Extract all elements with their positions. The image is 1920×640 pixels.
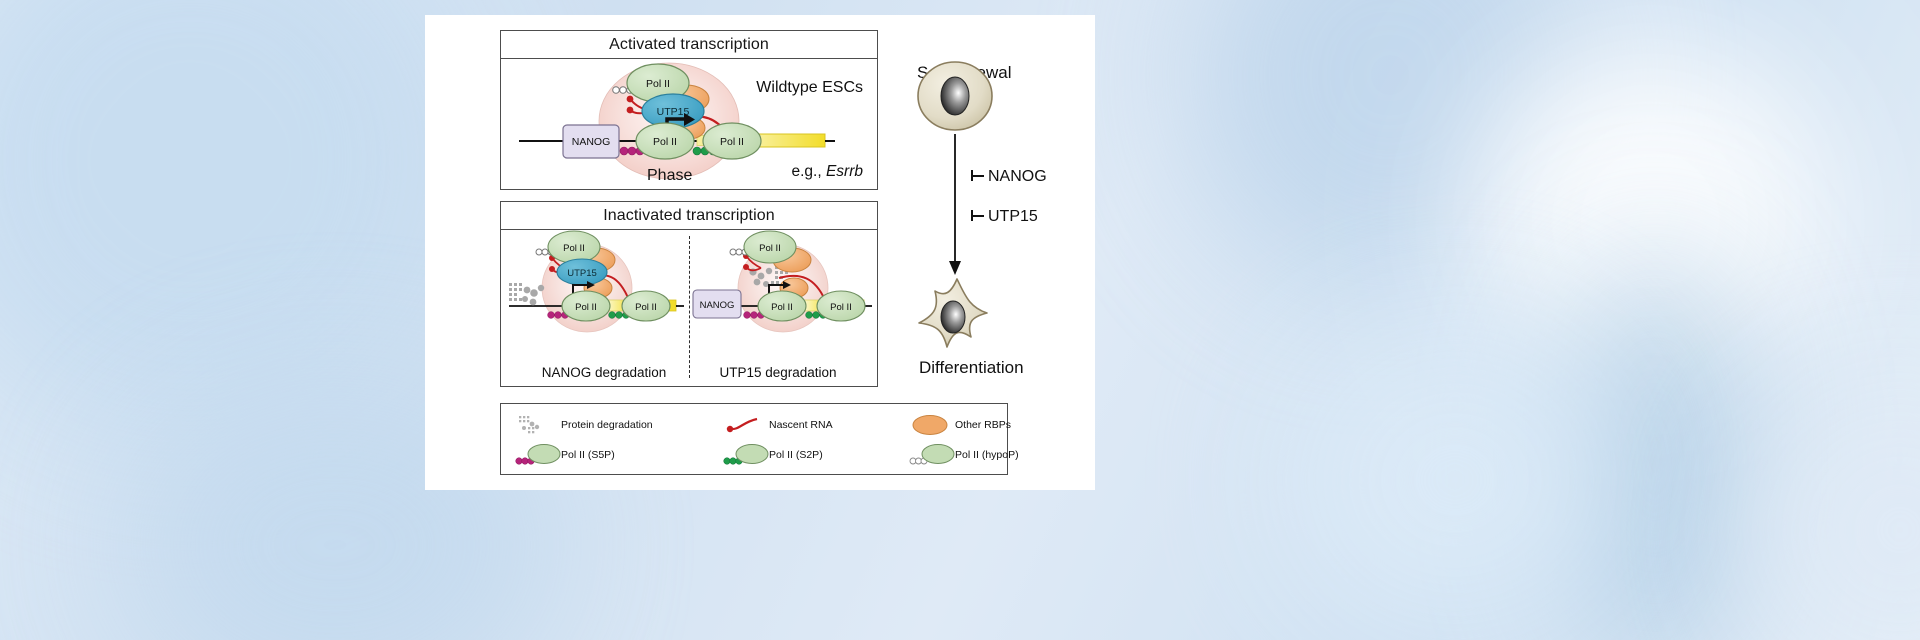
inhibition-bar-icon (971, 173, 985, 181)
pol-ii-s5p-label: Pol II (575, 302, 597, 313)
fate-pathway: Self-renewal (895, 33, 1090, 473)
differentiated-cell-nucleus (941, 301, 965, 333)
protein-degradation-icon (515, 414, 561, 436)
nanog-degradation-scene: Pol II UTP15 Pol II Pol II (503, 230, 689, 360)
pol-ii-s2p-label: Pol II (720, 136, 744, 148)
subpanel-divider (689, 236, 690, 378)
pol-ii-s2p-icon (723, 444, 769, 466)
example-gene-label: e.g., Esrrb (791, 163, 863, 181)
panel-inactivated-title: Inactivated transcription (501, 202, 877, 230)
panel-activated-title: Activated transcription (501, 31, 877, 59)
nascent-rna-dot-b (627, 107, 634, 114)
inhibitor-utp15: UTP15 (971, 208, 1038, 226)
nascent-rna-icon (723, 414, 769, 436)
caption-utp15-degradation: UTP15 degradation (693, 365, 863, 380)
example-gene-name: Esrrb (826, 163, 863, 180)
legend-item-nascent-rna: Nascent RNA (723, 414, 833, 436)
legend-item-pol-ii-s5p: Pol II (S5P) (515, 444, 615, 466)
inhibitor-label: NANOG (988, 168, 1047, 186)
pol-ii-hypop-label: Pol II (759, 243, 781, 254)
pol-ii-s2p-label: Pol II (635, 302, 657, 313)
utp15-degradation-scene: NANOG (691, 230, 877, 360)
legend-label: Pol II (S5P) (561, 449, 615, 461)
wildtype-escs-label: Wildtype ESCs (756, 79, 863, 97)
legend-item-protein-degradation: Protein degradation (515, 414, 653, 436)
stem-cell-nucleus (941, 77, 969, 115)
panel-activated-transcription: Activated transcription (500, 30, 878, 190)
inhibitor-label: UTP15 (988, 208, 1038, 226)
nascent-rna-dot-a (627, 96, 634, 103)
pol-ii-hypop-label: Pol II (563, 243, 585, 254)
legend-item-pol-ii-s2p: Pol II (S2P) (723, 444, 823, 466)
utp15-label: UTP15 (567, 268, 597, 279)
pol-ii-s5p-label: Pol II (653, 136, 677, 148)
example-gene-prefix: e.g., (791, 163, 825, 180)
nascent-rna-dot-b (549, 266, 555, 272)
panel-inactivated-transcription: Inactivated transcription (500, 201, 878, 387)
nanog-label: NANOG (700, 300, 735, 311)
pol-ii-s2p-label: Pol II (830, 302, 852, 313)
nanog-label: NANOG (572, 136, 611, 148)
differentiation-label: Differentiation (919, 358, 1024, 378)
protein-degradation-icon (509, 283, 544, 305)
legend-label: Protein degradation (561, 419, 653, 431)
backdrop-blob-5 (1290, 330, 1620, 630)
caption-nanog-degradation: NANOG degradation (519, 365, 689, 380)
figure-card: Activated transcription (425, 15, 1095, 490)
inhibition-bar-icon (971, 213, 985, 221)
nascent-rna-dot-b (743, 264, 749, 270)
pol-ii-s5p-label: Pol II (771, 302, 793, 313)
pol-ii-hypop-label: Pol II (646, 78, 670, 90)
legend-label: Nascent RNA (769, 419, 833, 431)
inhibitor-nanog: NANOG (971, 168, 1047, 186)
pol-ii-s5p-icon (515, 444, 561, 466)
panel-activated-body: Pol II UTP15 NANOG Pol II (501, 59, 877, 189)
panel-inactivated-body: Pol II UTP15 Pol II Pol II (501, 230, 877, 386)
phase-label: Phase (647, 167, 692, 185)
legend-label: Pol II (S2P) (769, 449, 823, 461)
differentiation-arrow-head (949, 261, 961, 275)
graphical-abstract: Activated transcription (425, 15, 1095, 490)
